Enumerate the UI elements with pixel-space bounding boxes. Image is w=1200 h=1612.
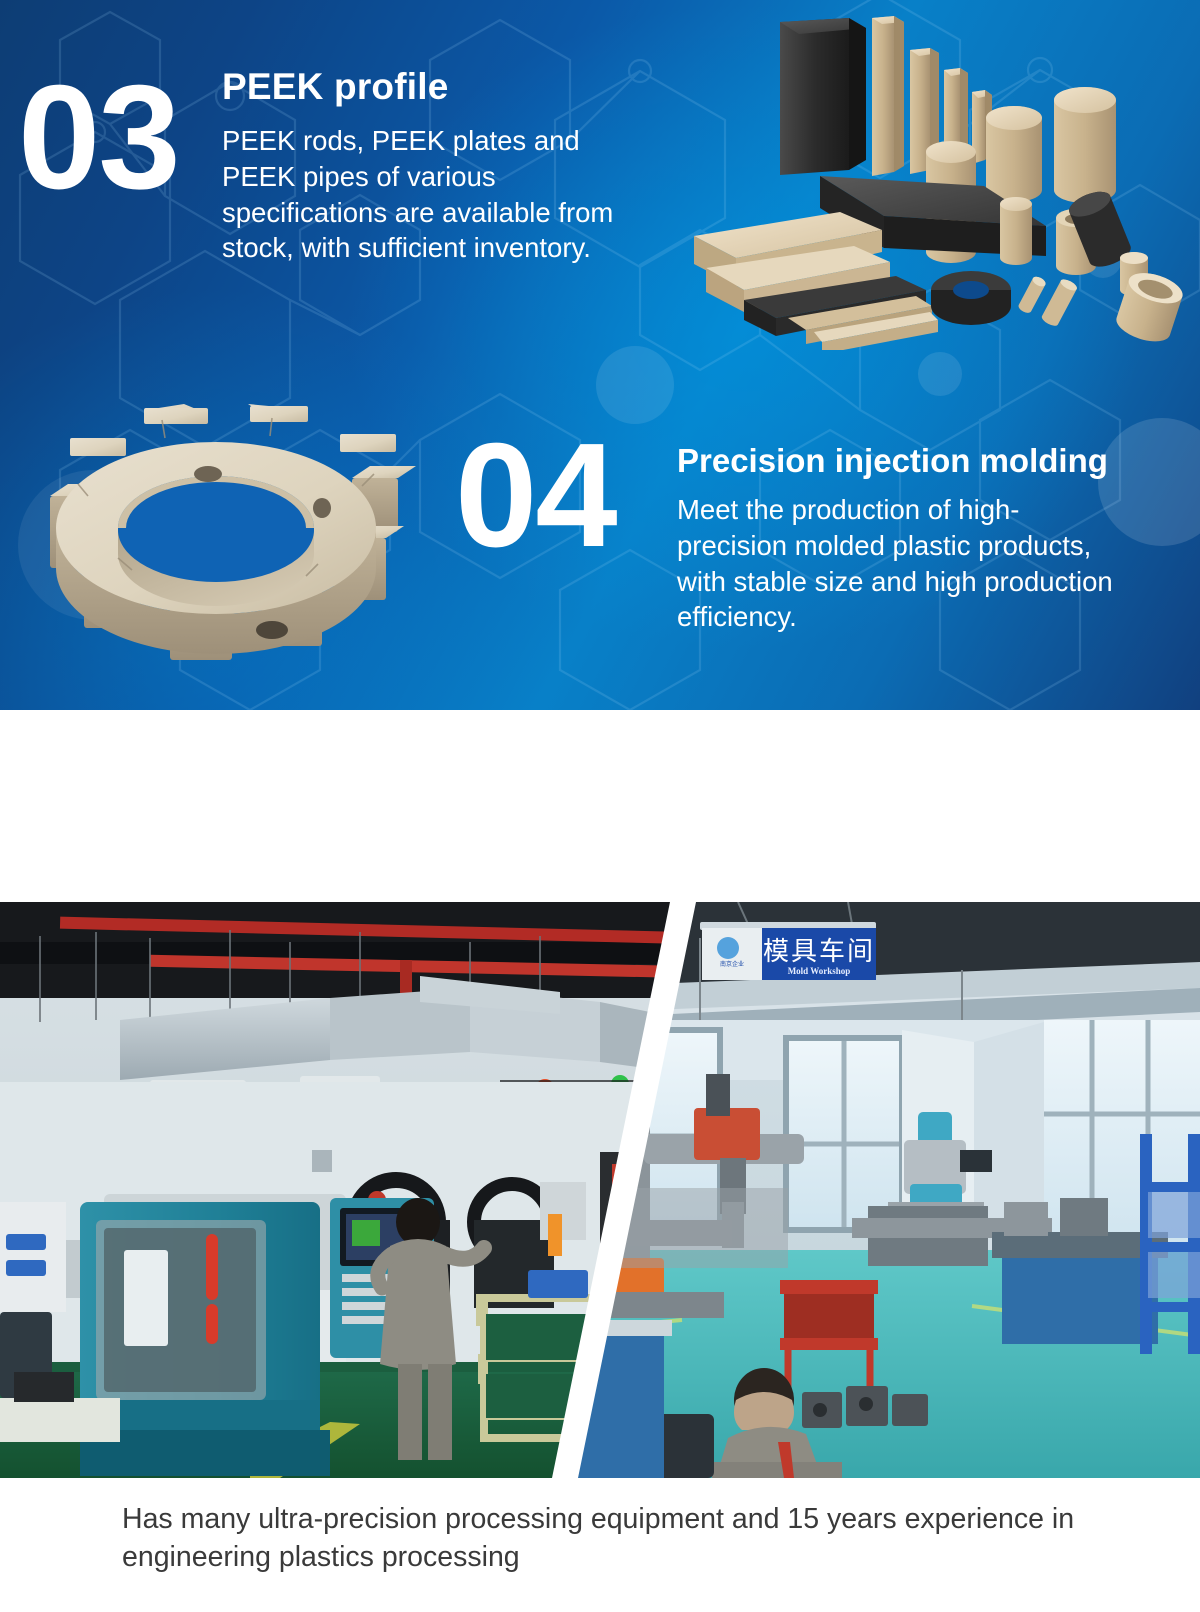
feature-card-04: 04 Precision injection molding Meet the … — [455, 420, 1175, 665]
feature-body-03: PEEK rods, PEEK plates and PEEK pipes of… — [222, 123, 654, 266]
svg-text:Mold Workshop: Mold Workshop — [788, 966, 851, 976]
feature-number-04: 04 — [455, 428, 616, 564]
feature-number-03: 03 — [18, 70, 179, 206]
features-blue-panel: 03 PEEK profile PEEK rods, PEEK plates a… — [0, 0, 1200, 710]
our-strengths-banner: Our strengths — [0, 710, 1200, 902]
peek-rods-plates-pipes-photo — [694, 0, 1200, 350]
feature-body-04: Meet the production of high-precision mo… — [677, 492, 1117, 635]
svg-text:南京企业: 南京企业 — [720, 960, 744, 968]
svg-text:模具车间: 模具车间 — [763, 937, 875, 967]
workshop-photo-gallery: 南京企业 模具车间 Mold Workshop — [0, 902, 1200, 1478]
peek-gear-ring-photo — [22, 378, 442, 678]
feature-card-03: 03 PEEK profile PEEK rods, PEEK plates a… — [0, 48, 660, 338]
feature-title-04: Precision injection molding — [677, 442, 1177, 480]
decorative-blob — [918, 352, 962, 396]
gallery-caption: Has many ultra-precision processing equi… — [0, 1478, 1200, 1612]
feature-title-03: PEEK profile — [222, 66, 652, 108]
